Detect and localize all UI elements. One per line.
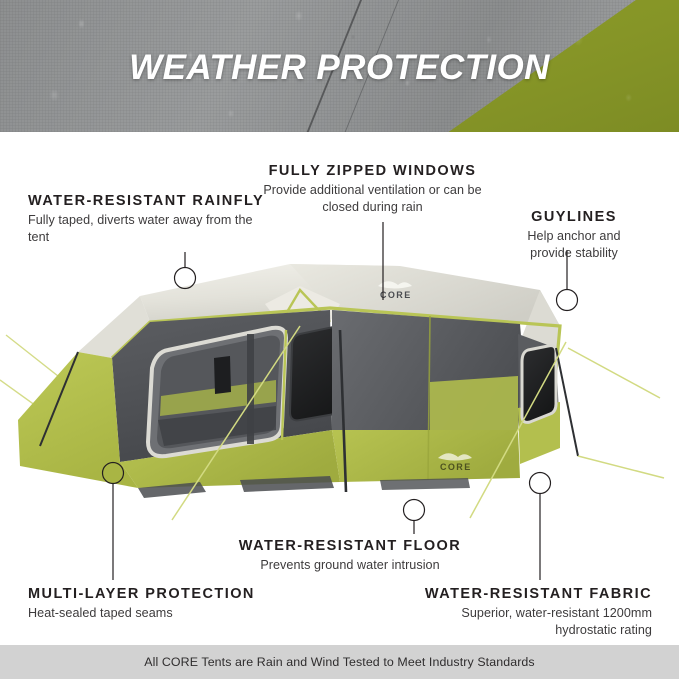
svg-text:CORE: CORE <box>440 462 472 472</box>
callout-floor-subtitle: Prevents ground water intrusion <box>205 557 495 574</box>
tent-svg: CORE CORE <box>0 230 679 525</box>
infographic-page: WEATHER PROTECTION <box>0 0 679 679</box>
callout-multilayer-subtitle: Heat-sealed taped seams <box>28 605 255 622</box>
callout-rainfly-subtitle: Fully taped, diverts water away from the… <box>28 212 256 245</box>
footer-text: All CORE Tents are Rain and Wind Tested … <box>144 655 534 669</box>
callout-windows: FULLY ZIPPED WINDOWS Provide additional … <box>255 162 490 216</box>
tent-green-wedge-right <box>430 376 518 430</box>
callout-guylines-subtitle: Help anchor and provide stability <box>513 228 635 261</box>
callout-floor: WATER-RESISTANT FLOOR Prevents ground wa… <box>205 537 495 574</box>
callout-fabric: WATER-RESISTANT FABRIC Superior, water-r… <box>352 585 652 639</box>
callout-windows-title: FULLY ZIPPED WINDOWS <box>255 162 490 180</box>
callout-rainfly: WATER-RESISTANT RAINFLY Fully taped, div… <box>28 192 264 246</box>
page-title: WEATHER PROTECTION <box>0 48 679 88</box>
interior-hanging-bag <box>214 356 231 394</box>
callout-multilayer: MULTI-LAYER PROTECTION Heat-sealed taped… <box>28 585 255 622</box>
side-window-right <box>522 346 556 423</box>
svg-text:CORE: CORE <box>380 290 412 300</box>
callout-floor-title: WATER-RESISTANT FLOOR <box>205 537 495 555</box>
callout-guylines-title: GUYLINES <box>479 208 669 226</box>
tent-illustration: CORE CORE <box>0 230 679 525</box>
brand-logo-rainfly: CORE <box>378 281 412 300</box>
tent-body-green-right <box>332 430 520 482</box>
header-banner: WEATHER PROTECTION <box>0 0 679 132</box>
callout-fabric-subtitle: Superior, water-resistant 1200mm hydrost… <box>440 605 652 638</box>
ground-skirt-right <box>380 478 470 490</box>
callout-rainfly-title: WATER-RESISTANT RAINFLY <box>28 192 264 210</box>
interior-pole-vertical <box>247 334 254 444</box>
callout-guylines: GUYLINES Help anchor and provide stabili… <box>479 208 669 262</box>
callout-multilayer-title: MULTI-LAYER PROTECTION <box>28 585 255 603</box>
footer-bar: All CORE Tents are Rain and Wind Tested … <box>0 645 679 679</box>
brand-logo-body: CORE <box>438 453 472 472</box>
callout-windows-subtitle: Provide additional ventilation or can be… <box>255 182 490 215</box>
callout-fabric-title: WATER-RESISTANT FABRIC <box>352 585 652 603</box>
